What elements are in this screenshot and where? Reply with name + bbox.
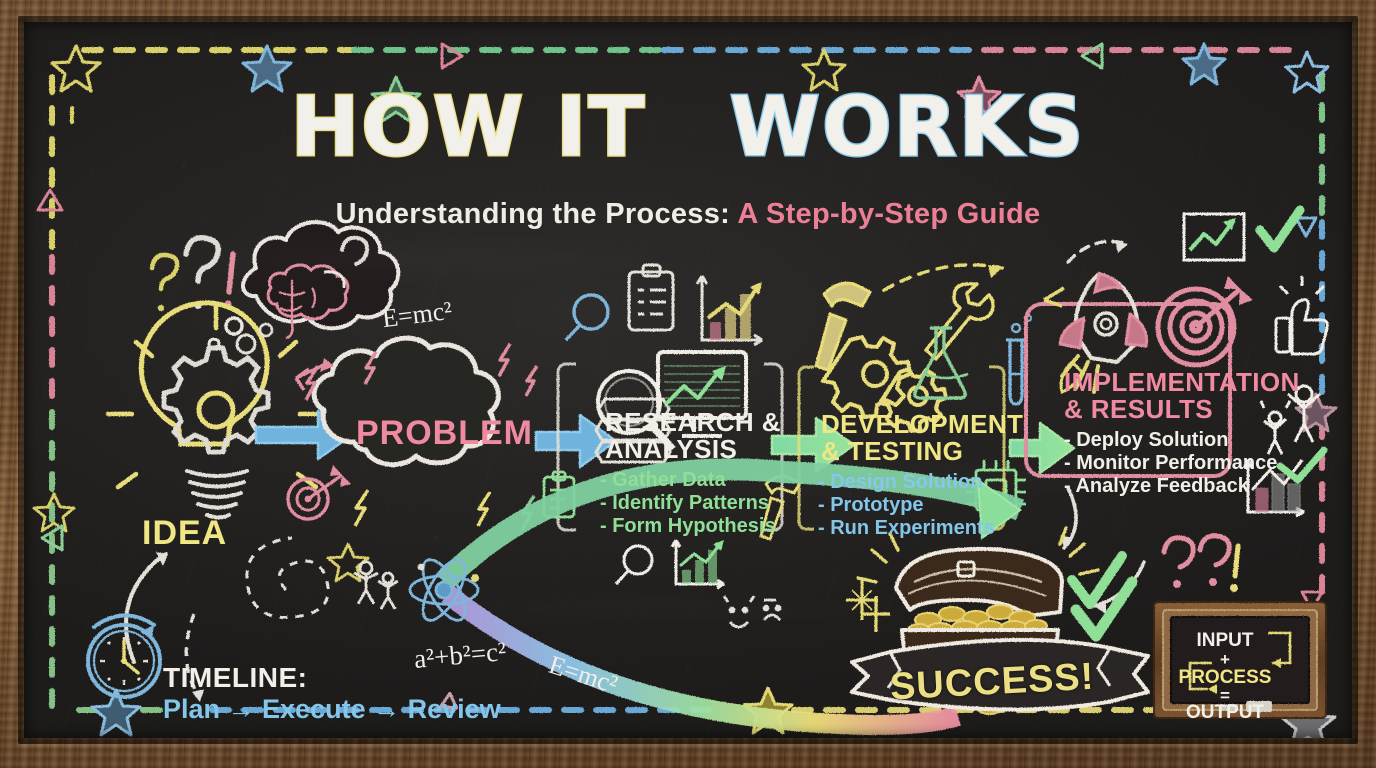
mini-board-output: OUTPUT	[1186, 702, 1264, 724]
timeline-label: TIMELINE:	[163, 662, 308, 694]
equation-einstein-left: E=mc²	[380, 296, 453, 334]
stage-heading-implementation-line1: IMPLEMENTATION	[1064, 369, 1300, 396]
title-part-2: WORKS	[730, 80, 1086, 175]
stage-heading-development-line1: DEVELOPMENT	[821, 411, 1023, 438]
equation-einstein-bottom: E=mc²	[545, 650, 621, 700]
stage-heading-implementation-line2: & RESULTS	[1064, 396, 1213, 423]
page-title: HOW IT WORKS	[24, 80, 1352, 175]
stage-label-success: SUCCESS!	[889, 656, 1095, 710]
subtitle-accent: A Step-by-Step Guide	[737, 198, 1040, 230]
stage-heading-research-line2: ANALYSIS	[605, 436, 737, 463]
mini-board-input: INPUT	[1197, 630, 1254, 652]
equation-pythagoras: a²+b²=c²	[413, 636, 508, 675]
stage-label-problem: PROBLEM	[356, 414, 533, 453]
stage-bullet-research-2: - Form Hypothesis	[600, 513, 776, 541]
stage-label-idea: IDEA	[142, 514, 227, 553]
stage-bullet-development-2: - Run Experiments	[818, 515, 995, 543]
stage-heading-development-line2: & TESTING	[821, 438, 963, 465]
title-part-1: HOW IT	[291, 80, 647, 175]
subtitle-plain: Understanding the Process:	[336, 198, 731, 230]
stage-heading-research-line1: RESEARCH &	[605, 409, 781, 436]
wooden-frame: HOW IT WORKS Understanding the Process: …	[0, 0, 1376, 768]
page-subtitle: Understanding the Process: A Step-by-Ste…	[24, 198, 1352, 231]
text-layer: HOW IT WORKS Understanding the Process: …	[24, 22, 1352, 738]
stage-bullet-implementation-2: - Analyze Feedback	[1064, 473, 1249, 501]
chalkboard: HOW IT WORKS Understanding the Process: …	[24, 22, 1352, 738]
timeline-steps: Plan → Execute → Review	[163, 694, 501, 725]
